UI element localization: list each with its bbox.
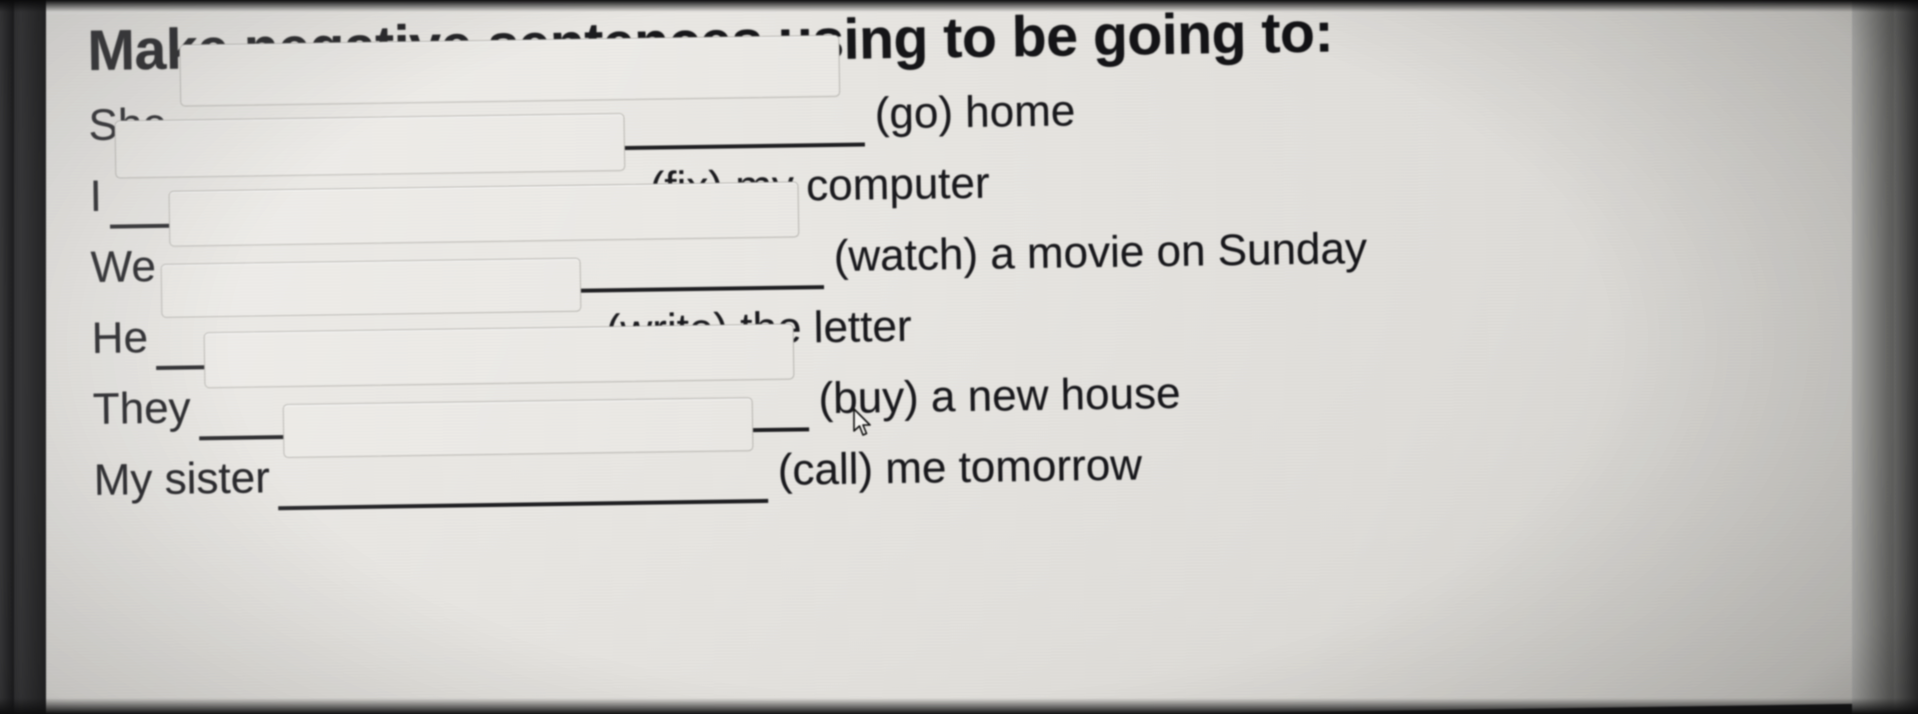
- question-row: My sister (call) me tomorrow: [93, 421, 1834, 513]
- answer-input[interactable]: [180, 35, 841, 107]
- question-prompt: We: [90, 245, 156, 300]
- question-prompt: They: [92, 386, 191, 441]
- worksheet-screen: Make negative sentences using to be goin…: [35, 0, 1876, 714]
- question-hint: (watch) a movie on Sunday: [833, 227, 1367, 289]
- answer-input[interactable]: [115, 113, 626, 179]
- answer-blank: [277, 437, 768, 510]
- monitor-bezel-right-edge: [1894, 0, 1918, 714]
- question-prompt: He: [91, 316, 148, 371]
- answer-input[interactable]: [283, 397, 754, 458]
- worksheet-content: Make negative sentences using to be goin…: [87, 0, 1834, 518]
- question-hint: (go) home: [874, 89, 1075, 146]
- question-hint: (buy) a new house: [818, 372, 1181, 431]
- question-list: She (go) home I (fix) my computer: [88, 66, 1834, 513]
- photographed-screen: Make negative sentences using to be goin…: [0, 0, 1918, 714]
- answer-input[interactable]: [203, 323, 794, 388]
- answer-input[interactable]: [161, 258, 582, 318]
- monitor-bezel-left-edge: [0, 0, 14, 714]
- question-prompt: My sister: [93, 456, 270, 513]
- photo-bottom-shadow: [0, 698, 1918, 714]
- question-hint: (call) me tomorrow: [777, 443, 1142, 502]
- answer-input[interactable]: [169, 181, 800, 246]
- photo-top-shadow: [0, 0, 1918, 12]
- question-prompt: I: [89, 175, 102, 229]
